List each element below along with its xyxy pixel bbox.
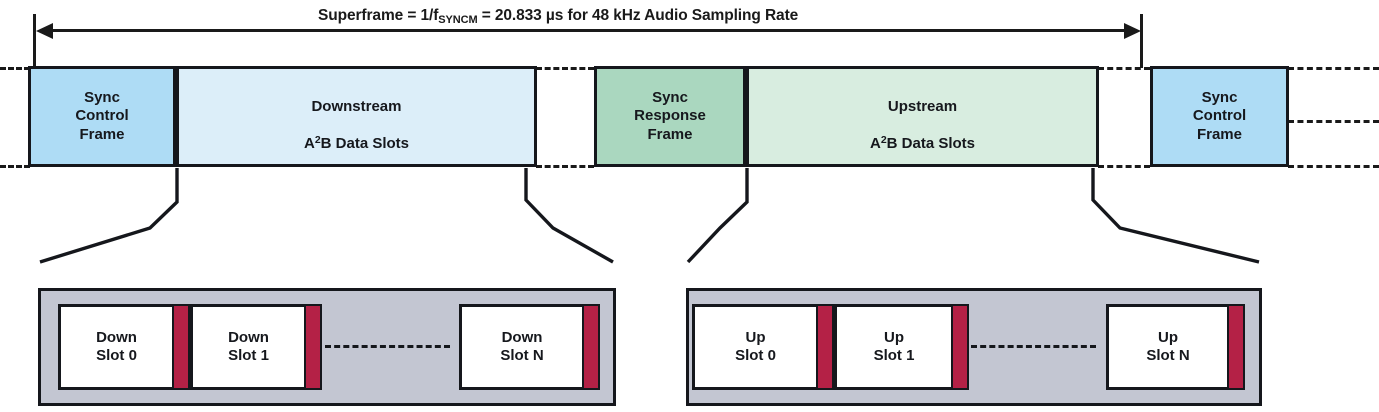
leader-downstream-left xyxy=(40,168,177,262)
upstream-slot-0-label: Up Slot 0 xyxy=(735,329,776,365)
downstream-slot-1-label: Down Slot 1 xyxy=(228,329,269,365)
upstream-slot-ellipsis xyxy=(971,345,1096,348)
upstream-separator-n xyxy=(1227,304,1245,390)
upstream-slot-n[interactable]: Up Slot N xyxy=(1106,304,1230,390)
downstream-separator-n xyxy=(582,304,600,390)
downstream-slot-ellipsis xyxy=(325,345,450,348)
upstream-separator-1 xyxy=(951,304,969,390)
downstream-slot-n-label: Down Slot N xyxy=(500,329,543,365)
downstream-slot-0-label: Down Slot 0 xyxy=(96,329,137,365)
leader-downstream-right xyxy=(526,168,613,262)
downstream-separator-1 xyxy=(304,304,322,390)
upstream-slot-1-label: Up Slot 1 xyxy=(874,329,915,365)
upstream-slot-1[interactable]: Up Slot 1 xyxy=(834,304,954,390)
leader-upstream-right xyxy=(1093,168,1259,262)
downstream-slot-0[interactable]: Down Slot 0 xyxy=(58,304,175,390)
downstream-slot-1[interactable]: Down Slot 1 xyxy=(190,304,307,390)
upstream-slot-0[interactable]: Up Slot 0 xyxy=(692,304,819,390)
downstream-separator-0 xyxy=(172,304,190,390)
upstream-separator-0 xyxy=(816,304,834,390)
leader-upstream-left xyxy=(688,168,747,262)
downstream-slot-n[interactable]: Down Slot N xyxy=(459,304,585,390)
superframe-diagram: Superframe = 1/fSYNCM = 20.833 µs for 48… xyxy=(0,0,1379,412)
upstream-slot-n-label: Up Slot N xyxy=(1146,329,1189,365)
